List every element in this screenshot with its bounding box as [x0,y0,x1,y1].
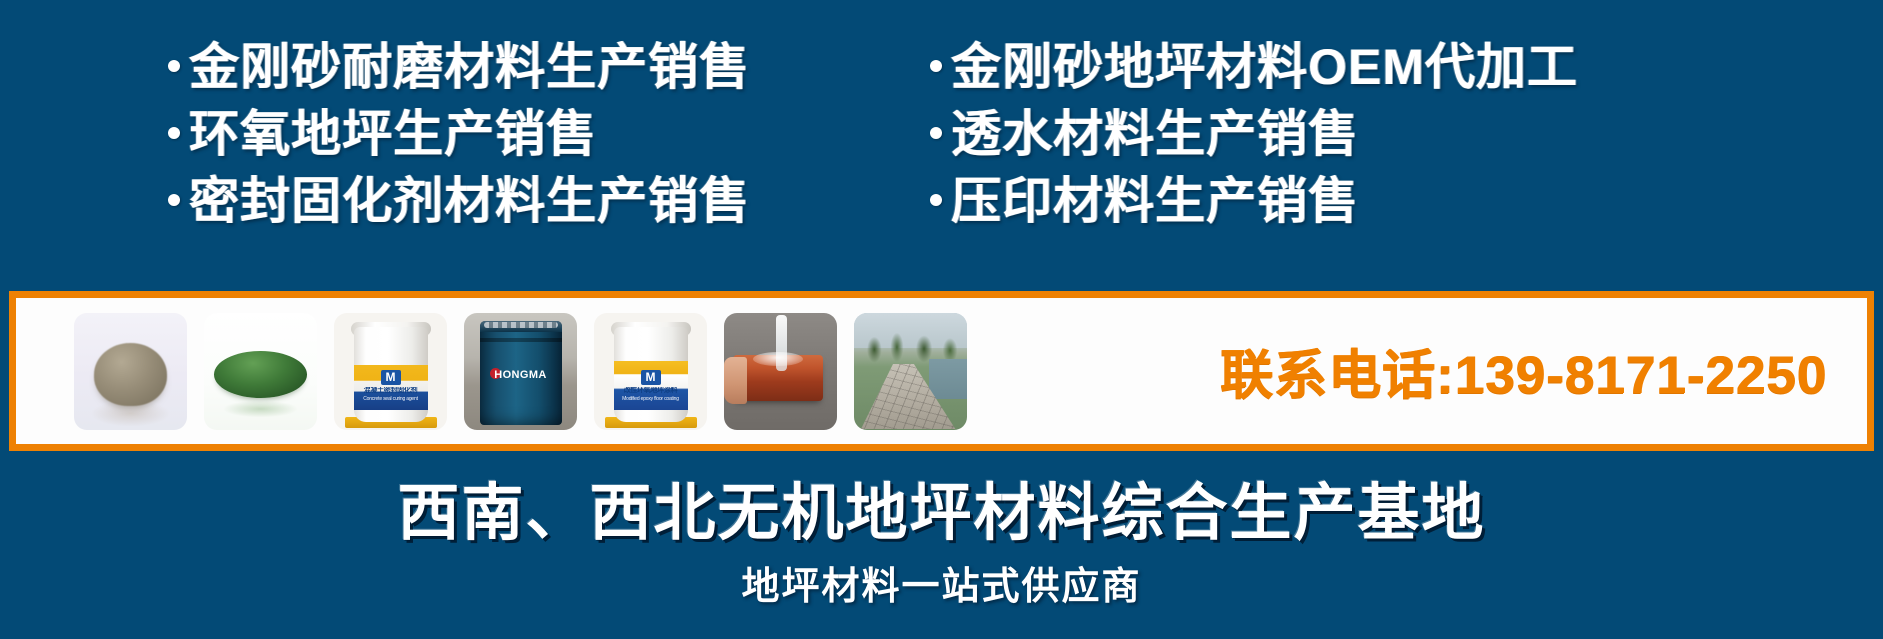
advertising-banner: 金刚砂耐磨材料生产销售 环氧地坪生产销售 密封固化剂材料生产销售 金刚砂地坪材料… [0,0,1883,639]
product-thumb-hongma-drum: HONGMA [464,313,577,430]
product-thumb-stamped-pavement [854,313,967,430]
bullet-dot-icon [930,194,942,206]
brand-m-logo-icon [381,370,401,385]
bucket-label [614,361,688,410]
service-item: 金刚砂地坪材料OEM代加工 [930,34,1883,101]
service-item-label: 环氧地坪生产销售 [189,101,597,168]
service-item-label: 透水材料生产销售 [951,101,1359,168]
bullet-dot-icon [930,60,942,72]
drum-band [480,338,562,342]
service-list-left-column: 金刚砂耐磨材料生产销售 环氧地坪生产销售 密封固化剂材料生产销售 [0,34,880,264]
product-strip: 混凝土密封固化剂 Concrete seal curing agent HONG… [9,291,1874,451]
product-thumb-epoxy-bucket: 改性环氧地坪涂料 Modified epoxy floor coating [594,313,707,430]
service-list-right-column: 金刚砂地坪材料OEM代加工 透水材料生产销售 压印材料生产销售 [880,34,1883,264]
product-thumb-green-abrasive-powder [204,313,317,430]
service-item-label: 压印材料生产销售 [951,168,1359,235]
footer-headline: 西南、西北无机地坪材料综合生产基地 [0,462,1883,552]
drum-body: HONGMA [480,321,562,425]
service-list-section: 金刚砂耐磨材料生产销售 环氧地坪生产销售 密封固化剂材料生产销售 金刚砂地坪材料… [0,34,1883,264]
product-thumb-grey-abrasive-powder [74,313,187,430]
hand [724,357,747,404]
product-thumb-sealer-bucket: 混凝土密封固化剂 Concrete seal curing agent [334,313,447,430]
service-item: 环氧地坪生产销售 [168,101,880,168]
product-thumb-permeable-concrete [724,313,837,430]
service-item: 压印材料生产销售 [930,168,1883,235]
bucket-label-en: Modified epoxy floor coating [614,396,688,402]
bucket-label-cn: 混凝土密封固化剂 [354,387,428,395]
bullet-dot-icon [168,60,180,72]
drum-brand-label: HONGMA [480,369,562,381]
product-thumbnail-list: 混凝土密封固化剂 Concrete seal curing agent HONG… [16,313,984,430]
bullet-dot-icon [930,127,942,139]
service-item: 透水材料生产销售 [930,101,1883,168]
service-item-label: 金刚砂地坪材料OEM代加工 [951,34,1578,101]
footer-subline: 地坪材料一站式供应商 [0,555,1883,610]
service-item-label: 金刚砂耐磨材料生产销售 [189,34,750,101]
contact-phone[interactable]: 联系电话:139-8171-2250 [1220,333,1827,409]
bullet-dot-icon [168,194,180,206]
bucket-label-cn: 改性环氧地坪涂料 [614,387,688,395]
drum-rim [480,321,562,332]
service-item: 金刚砂耐磨材料生产销售 [168,34,880,101]
bucket-label-en: Concrete seal curing agent [354,396,428,402]
pond [929,359,967,399]
service-item: 密封固化剂材料生产销售 [168,168,880,235]
bullet-dot-icon [168,127,180,139]
service-item-label: 密封固化剂材料生产销售 [189,168,750,235]
brand-m-logo-icon [641,370,661,385]
